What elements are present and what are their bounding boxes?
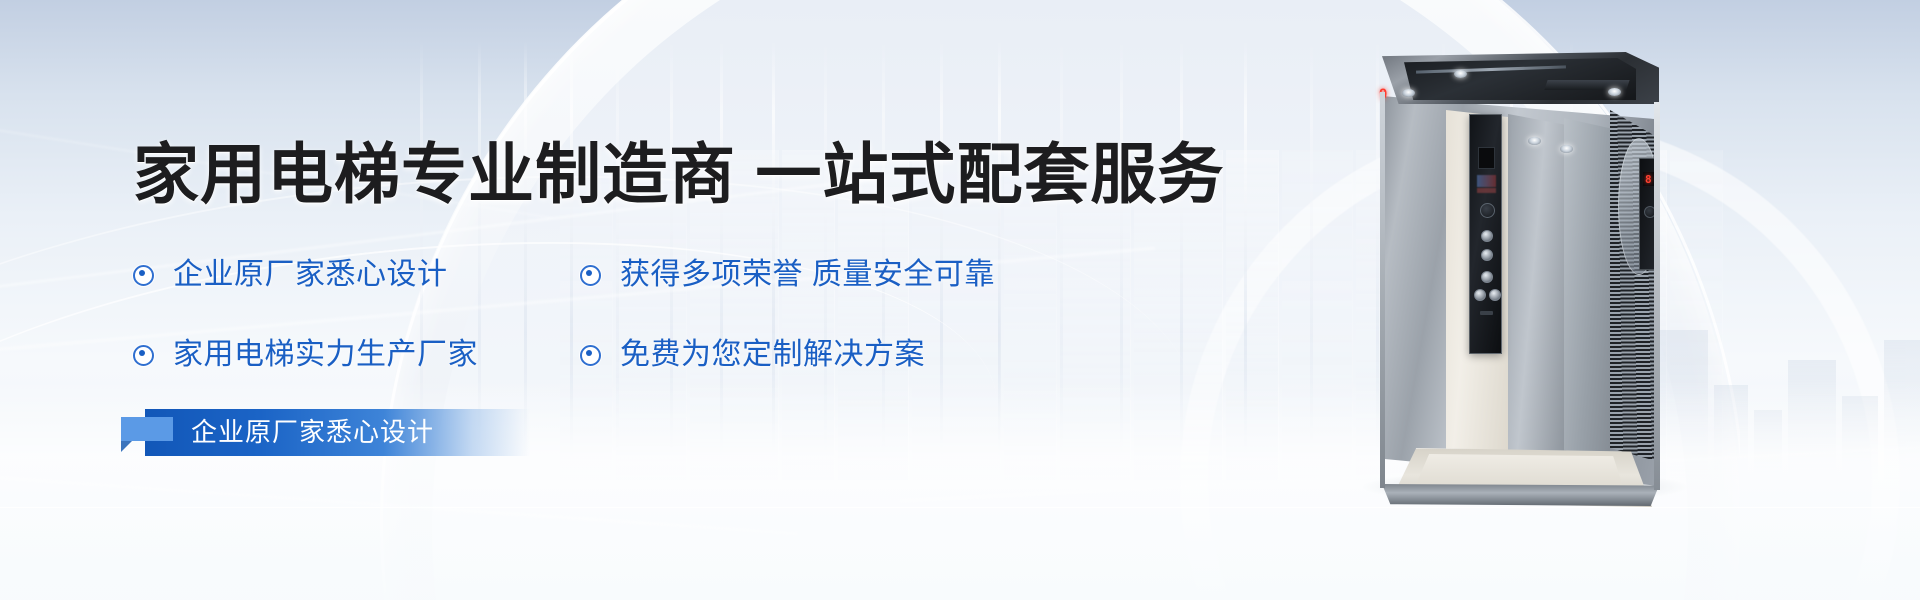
bullet-label-3: 家用电梯实力生产厂家 (173, 338, 478, 372)
bullet-row-1: 企业原厂家悉心设计 获得多项荣誉 质量安全可靠 (133, 258, 1133, 292)
flag-icon (121, 417, 173, 441)
bullet-item-3: 家用电梯实力生产厂家 (133, 338, 580, 372)
bullet-dot-icon (133, 345, 154, 366)
bullet-item-2: 获得多项荣誉 质量安全可靠 (580, 258, 995, 292)
feature-bullet-list: 企业原厂家悉心设计 获得多项荣誉 质量安全可靠 家用电梯实力生产厂家 免费为您定… (133, 258, 1133, 372)
bullet-dot-icon (133, 265, 154, 286)
bullet-dot-icon (580, 345, 601, 366)
bullet-item-4: 免费为您定制解决方案 (580, 338, 925, 372)
banner-content: 家用电梯专业制造商 一站式配套服务 企业原厂家悉心设计 获得多项荣誉 质量安全可… (0, 0, 1920, 600)
bullet-dot-icon (580, 265, 601, 286)
hero-banner: 8 9 (0, 0, 1920, 600)
bullet-row-2: 家用电梯实力生产厂家 免费为您定制解决方案 (133, 338, 1133, 372)
bullet-item-1: 企业原厂家悉心设计 (133, 258, 580, 292)
ribbon-tag-label: 企业原厂家悉心设计 (191, 416, 434, 449)
bullet-label-4: 免费为您定制解决方案 (620, 338, 925, 372)
highlight-ribbon-tag: 企业原厂家悉心设计 (145, 409, 530, 456)
bullet-label-2: 获得多项荣誉 质量安全可靠 (620, 258, 995, 292)
banner-headline: 家用电梯专业制造商 一站式配套服务 (133, 133, 1224, 215)
bullet-label-1: 企业原厂家悉心设计 (173, 258, 448, 292)
